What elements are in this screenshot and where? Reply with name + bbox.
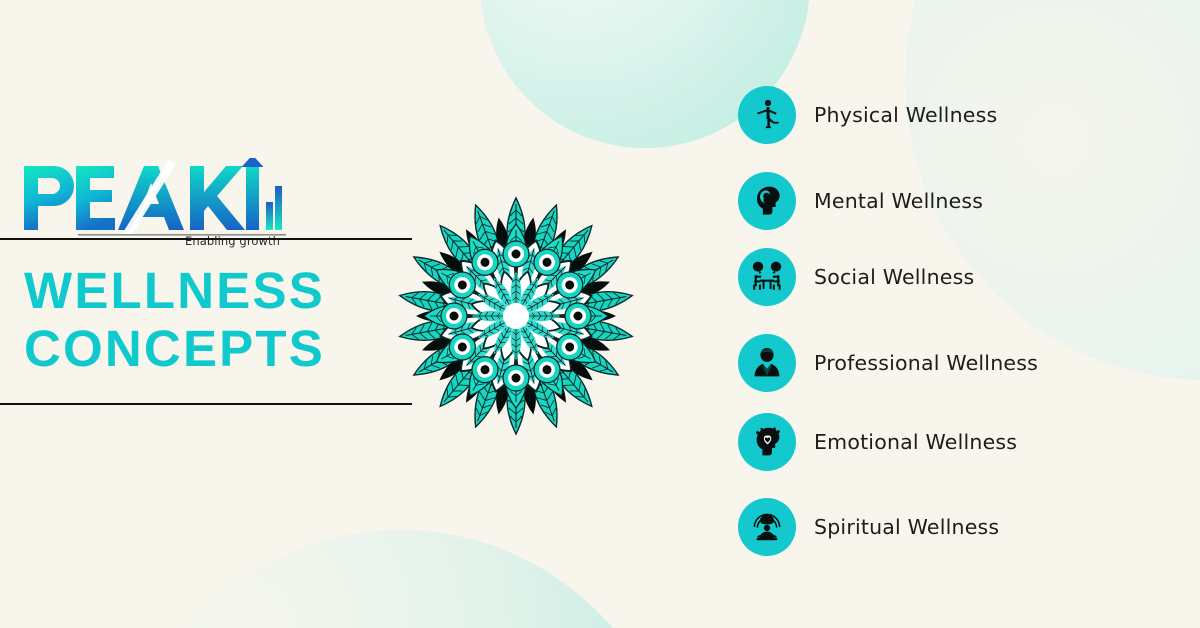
two-people-conversation-icon: [738, 248, 796, 306]
list-item[interactable]: Social Wellness: [738, 248, 974, 306]
list-item-label: Mental Wellness: [814, 189, 983, 213]
list-item[interactable]: Mental Wellness: [738, 172, 983, 230]
left-panel: Enabling growth WELLNESS CONCEPTS: [0, 0, 440, 628]
mandala-flower-graphic: [392, 192, 640, 440]
list-item[interactable]: Physical Wellness: [738, 86, 997, 144]
wellness-list: Physical Wellness Mental Wellness: [738, 0, 1200, 628]
head-with-heart-icon: [738, 413, 796, 471]
list-item-label: Emotional Wellness: [814, 430, 1017, 454]
meditating-person-icon: [738, 498, 796, 556]
page-title-line-2: CONCEPTS: [24, 320, 424, 378]
list-item-label: Social Wellness: [814, 265, 974, 289]
page-title-line-1: WELLNESS: [24, 262, 325, 319]
list-item-label: Professional Wellness: [814, 351, 1038, 375]
poster-canvas: Enabling growth WELLNESS CONCEPTS: [0, 0, 1200, 628]
balancing-person-icon: [738, 86, 796, 144]
list-item-label: Spiritual Wellness: [814, 515, 999, 539]
list-item[interactable]: Professional Wellness: [738, 334, 1038, 392]
list-item[interactable]: Spiritual Wellness: [738, 498, 999, 556]
logo-tagline: Enabling growth: [185, 234, 280, 248]
list-item[interactable]: Emotional Wellness: [738, 413, 1017, 471]
list-item-label: Physical Wellness: [814, 103, 997, 127]
divider-line-bottom: [0, 403, 412, 405]
page-title: WELLNESS CONCEPTS: [24, 262, 424, 378]
head-brain-spiral-icon: [738, 172, 796, 230]
businessperson-bust-icon: [738, 334, 796, 392]
divider-line-top: [0, 238, 412, 240]
peakin-logo: [18, 158, 288, 238]
